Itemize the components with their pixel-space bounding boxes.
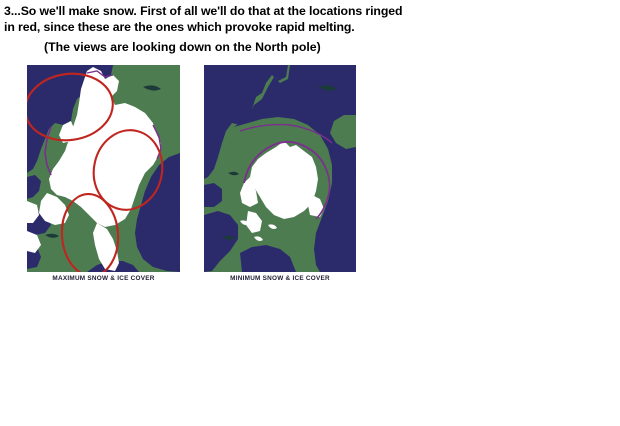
map-image-maximum [27, 65, 180, 272]
caption-maximum: MAXIMUM SNOW & ICE COVER [27, 275, 180, 282]
figure-minimum-snow-ice: MINIMUM SNOW & ICE COVER [204, 65, 356, 282]
arctic-map-maximum-svg [27, 65, 180, 272]
map-image-minimum [204, 65, 356, 272]
figure-group: MAXIMUM SNOW & ICE COVER [0, 0, 620, 426]
caption-minimum: MINIMUM SNOW & ICE COVER [204, 275, 356, 282]
figure-maximum-snow-ice: MAXIMUM SNOW & ICE COVER [27, 65, 180, 282]
arctic-map-minimum-svg [204, 65, 356, 272]
